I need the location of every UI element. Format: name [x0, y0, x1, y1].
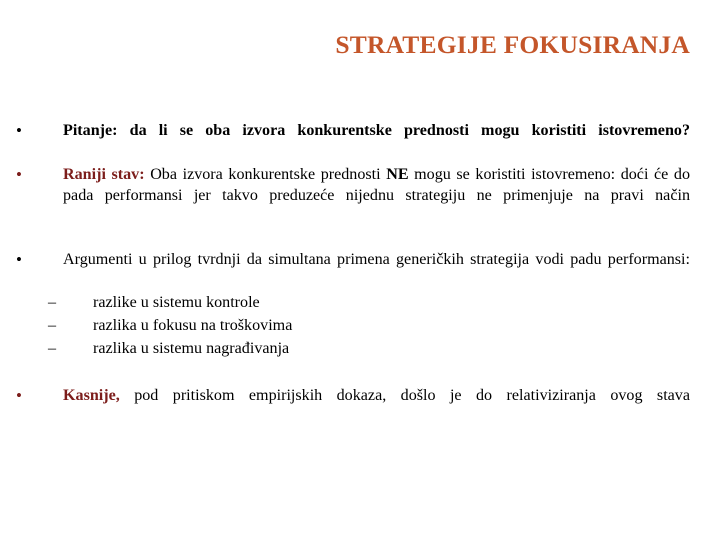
bullet-dash-icon: – [48, 314, 56, 337]
inline-emphasis: NE [386, 166, 408, 183]
slide-body: • Pitanje: da li se oba izvora konkurent… [14, 120, 690, 427]
sub-list-item: – razlike u sistemu kontrole [14, 291, 690, 314]
list-item-text: Argumenti u prilog tvrdnji da simultana … [63, 249, 690, 291]
bullet-dash-icon: – [48, 337, 56, 360]
list-item-text-part-1: pod pritiskom empirijskih dokaza, došlo … [120, 387, 690, 404]
list-item-text-part-1: Oba izvora konkurentske prednosti [145, 166, 387, 183]
list-item: • Kasnije, pod pritiskom empirijskih dok… [14, 385, 690, 427]
list-item: • Argumenti u prilog tvrdnji da simultan… [14, 249, 690, 291]
bullet-dot-icon: • [16, 385, 30, 406]
bullet-dash-icon: – [48, 291, 56, 314]
page-title: STRATEGIJE FOKUSIRANJA [30, 30, 690, 60]
spacer [14, 227, 690, 249]
list-item-text: Pitanje: da li se oba izvora konkurentsk… [63, 120, 690, 162]
list-item-text: Kasnije, pod pritiskom empirijskih dokaz… [63, 385, 690, 427]
list-item-text: Raniji stav: Oba izvora konkurentske pre… [63, 164, 690, 227]
sub-list-item: – razlika u fokusu na troškovima [14, 314, 690, 337]
bullet-dot-icon: • [16, 120, 30, 141]
lead-emphasis-label: Kasnije, [63, 387, 120, 404]
sub-list-item-text: razlika u fokusu na troškovima [93, 314, 690, 337]
sub-list-item-text: razlike u sistemu kontrole [93, 291, 690, 314]
lead-emphasis-label: Raniji stav: [63, 166, 145, 183]
sub-list-item: – razlika u sistemu nagrađivanja [14, 337, 690, 360]
bullet-dot-icon: • [16, 164, 30, 185]
slide: STRATEGIJE FOKUSIRANJA • Pitanje: da li … [0, 0, 720, 540]
spacer [14, 360, 690, 385]
bullet-dot-icon: • [16, 249, 30, 270]
list-item: • Raniji stav: Oba izvora konkurentske p… [14, 164, 690, 227]
sub-list-item-text: razlika u sistemu nagrađivanja [93, 337, 690, 360]
list-item: • Pitanje: da li se oba izvora konkurent… [14, 120, 690, 162]
